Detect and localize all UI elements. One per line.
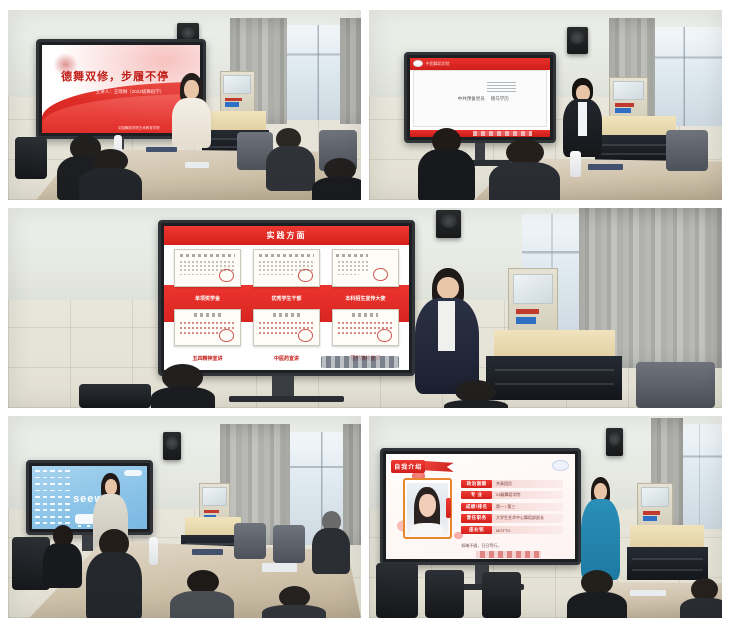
presenter-face (184, 80, 198, 99)
slide-column-2: 德马学历 (491, 96, 509, 102)
app-icon[interactable] (43, 490, 47, 492)
slide-ribbon: 自我介绍 (391, 460, 448, 474)
chair (273, 525, 305, 563)
app-icon[interactable] (65, 483, 69, 485)
ribbon-tail (422, 461, 453, 472)
certificate-caption: 五四精神宣讲 (174, 352, 242, 364)
certificate-card[interactable]: 本科招生宣传大使 (332, 249, 400, 305)
slide-title-text: 自我介绍 (394, 462, 422, 471)
board-screen[interactable]: 自我介绍 (386, 454, 575, 559)
university-logo-icon (552, 460, 569, 472)
presenter-shirt (438, 301, 455, 351)
info-value: MOTTO (492, 526, 564, 534)
cabinet-red-tag (615, 103, 633, 106)
chair (636, 362, 715, 408)
app-icon[interactable] (35, 490, 39, 492)
presenter-shirt (578, 102, 587, 136)
draped-table (494, 330, 615, 358)
info-label: 专 业 (461, 491, 492, 499)
audience-member (489, 139, 560, 200)
app-icon[interactable] (65, 516, 69, 518)
wall-cabinet (609, 77, 648, 119)
audience-member (86, 529, 142, 618)
app-icon[interactable] (50, 516, 54, 518)
app-icon[interactable] (35, 516, 39, 518)
audience-member (79, 149, 143, 200)
info-value: 大学生艺术中心舞蹈部部长 (492, 514, 564, 522)
cabinet-glass (513, 274, 553, 304)
chair (15, 137, 47, 179)
app-icon[interactable] (65, 477, 69, 479)
ceiling-speaker-icon (436, 210, 461, 238)
app-icon[interactable] (43, 503, 47, 505)
slide-launcher: seewo (32, 466, 147, 529)
water-bottle (570, 151, 581, 178)
slide-title-text: 实践方面 (266, 230, 306, 241)
collage-row-bottom: seewo (8, 416, 722, 618)
smart-board[interactable]: 实践方面 (158, 220, 415, 376)
water-bottle (149, 537, 158, 565)
cabinet-glass (223, 75, 251, 94)
app-icon[interactable] (58, 496, 62, 498)
info-value: 23级舞蹈学院 (492, 491, 564, 499)
panel-top-right[interactable]: 中国舞蹈学院 中共预备党员 德马学历 (369, 10, 722, 200)
cabinet-glass (202, 487, 227, 506)
slide-subtitle-text: 主讲人：王晓琳（2022级舞蹈学） (96, 89, 165, 95)
ceiling-speaker-icon (163, 432, 181, 460)
app-icon[interactable] (50, 470, 54, 472)
room-scene: seewo (8, 416, 361, 618)
certificate-card[interactable]: 中医药宣讲 (253, 309, 321, 365)
certificate-image (174, 249, 242, 287)
chair (482, 572, 521, 618)
presenter-face (437, 277, 459, 299)
audience-member (43, 525, 82, 586)
app-icon[interactable] (65, 490, 69, 492)
panel-bottom-right[interactable]: 自我介绍 (369, 416, 722, 618)
certificate-card[interactable]: 优秀学生干部 (253, 249, 321, 305)
app-icon[interactable] (58, 470, 62, 472)
collage-row-top: 德舞双修，步履不停 主讲人：王晓琳（2022级舞蹈学） 中国舞蹈学院艺术教育学院 (8, 10, 722, 200)
seal-icon (373, 268, 387, 281)
portrait-photo (407, 483, 448, 534)
info-label: 座右铭 (461, 526, 492, 534)
presenter (415, 268, 479, 392)
app-icon[interactable] (58, 509, 62, 511)
draped-table (185, 517, 241, 537)
app-icon[interactable] (58, 503, 62, 505)
info-label: 曾任职务 (461, 514, 492, 522)
slide-title-text: 德舞双修，步履不停 (61, 68, 169, 84)
seal-icon (219, 269, 233, 282)
presenter (563, 78, 602, 158)
app-icon[interactable] (58, 516, 62, 518)
app-icon[interactable] (50, 496, 54, 498)
app-icon[interactable] (35, 496, 39, 498)
info-row: 成绩/排名 第一 / 第三 (461, 503, 563, 511)
slide-column-1: 中共预备党员 (458, 96, 485, 102)
slide-table (487, 82, 516, 92)
app-icon[interactable] (58, 522, 62, 524)
info-rows: 政治面貌 共青团员 专 业 23级舞蹈学院 成绩/排名 第一 / 第三 (461, 480, 563, 535)
info-value: 共青团员 (492, 480, 564, 488)
notepad (185, 162, 210, 168)
app-icon[interactable] (58, 483, 62, 485)
draped-table (630, 525, 704, 549)
chair (79, 384, 150, 408)
info-label: 政治面貌 (461, 480, 492, 488)
app-grid[interactable] (35, 470, 70, 524)
panel-bottom-left[interactable]: seewo (8, 416, 361, 618)
app-icon[interactable] (65, 496, 69, 498)
notepad (262, 563, 297, 571)
wall-cabinet (508, 268, 558, 332)
info-row: 政治面貌 共青团员 (461, 480, 563, 488)
audience-member (680, 578, 722, 618)
app-icon[interactable] (50, 503, 54, 505)
certificate-caption: 中医药宣讲 (253, 352, 321, 364)
app-icon[interactable] (43, 483, 47, 485)
notepad (630, 590, 665, 596)
certificate-caption: 优秀学生干部 (253, 292, 321, 304)
smart-board[interactable]: seewo (26, 460, 153, 535)
presenter-face (594, 483, 607, 500)
presenter (581, 477, 620, 578)
app-icon[interactable] (50, 477, 54, 479)
presenter-torso (172, 98, 211, 147)
room-scene: 中国舞蹈学院 中共预备党员 德马学历 (369, 10, 722, 200)
cabinet-blue-tag (516, 317, 536, 324)
collage-row-middle: 实践方面 (8, 208, 722, 408)
app-icon[interactable] (43, 522, 47, 524)
slide-title-bar: 实践方面 (164, 226, 409, 245)
audience-member (312, 511, 351, 572)
info-row: 曾任职务 大学生艺术中心舞蹈部部长 (461, 514, 563, 522)
audience-member (418, 128, 474, 200)
slide-header-text: 中国舞蹈学院 (426, 61, 450, 67)
presenter (170, 73, 212, 153)
board-toolbar[interactable] (476, 551, 540, 558)
folder (192, 549, 224, 555)
presenter-face (105, 479, 117, 495)
app-icon[interactable] (35, 509, 39, 511)
certificate-grid: 单项奖学金 优秀学生干部 (174, 249, 399, 364)
chair (425, 570, 464, 618)
app-icon[interactable] (35, 522, 39, 524)
room-scene: 德舞双修，步履不停 主讲人：王晓琳（2022级舞蹈学） 中国舞蹈学院艺术教育学院 (8, 10, 361, 200)
cabinet-blue-tag (225, 102, 239, 106)
audience-member (170, 570, 234, 618)
name-tag (446, 498, 451, 519)
app-icon[interactable] (50, 522, 54, 524)
certificate-card[interactable]: 五四精神宣讲 (174, 309, 242, 365)
presenter-torso (581, 499, 620, 580)
slide-practice: 实践方面 (164, 226, 409, 370)
app-icon[interactable] (50, 490, 54, 492)
app-icon[interactable] (50, 509, 54, 511)
board-toolbar[interactable] (473, 131, 532, 136)
cabinet-glass (613, 81, 644, 100)
window (680, 424, 722, 529)
motto-text: 如晦不辍，日日笃行。 (461, 543, 563, 549)
audience-member (444, 380, 508, 408)
seal-icon (377, 329, 391, 342)
wall-cabinet (220, 71, 255, 113)
cabinet-red-tag (225, 98, 242, 101)
app-icon[interactable] (58, 490, 62, 492)
draped-table (206, 111, 266, 132)
curtain-right (340, 18, 361, 124)
certificate-image (253, 249, 321, 287)
room-scene: 自我介绍 (369, 416, 722, 618)
app-icon[interactable] (43, 477, 47, 479)
certificate-image (253, 309, 321, 347)
audience-member (312, 158, 361, 200)
wall-cabinet (637, 483, 672, 527)
app-icon[interactable] (43, 509, 47, 511)
chair (234, 523, 266, 559)
slide-content: 中国舞蹈学院 中共预备党员 德马学历 (410, 58, 550, 137)
chair (666, 130, 708, 172)
portrait-frame (403, 478, 452, 539)
info-row: 座右铭 MOTTO (461, 526, 563, 534)
app-icon[interactable] (65, 503, 69, 505)
info-row: 专 业 23级舞蹈学院 (461, 491, 563, 499)
smart-board[interactable]: 自我介绍 (380, 448, 581, 565)
window (651, 27, 722, 126)
cabinet-blue-tag (643, 516, 657, 521)
audience-member (262, 586, 326, 618)
cabinet-red-tag (516, 309, 540, 314)
board-screen[interactable]: 实践方面 (164, 226, 409, 370)
ceiling-speaker-icon (606, 428, 624, 456)
info-value: 第一 / 第三 (492, 503, 564, 511)
chair (376, 563, 418, 618)
app-icon[interactable] (50, 483, 54, 485)
folder (588, 164, 623, 170)
slide-title-tag: 自我介绍 (391, 460, 425, 474)
certificate-image (332, 249, 400, 287)
photo-collage: 德舞双修，步履不停 主讲人：王晓琳（2022级舞蹈学） 中国舞蹈学院艺术教育学院 (0, 0, 730, 640)
certificate-image (174, 309, 242, 347)
seal-icon (298, 269, 312, 282)
seal-icon (219, 329, 233, 342)
certificate-image (332, 309, 400, 347)
app-icon[interactable] (35, 503, 39, 505)
cabinet-glass (641, 487, 669, 507)
ceiling-speaker-icon (567, 27, 588, 54)
slide-body: 中共预备党员 德马学历 (413, 70, 547, 127)
board-stand (272, 376, 293, 398)
app-icon[interactable] (65, 470, 69, 472)
cabinet-red-tag (643, 511, 660, 514)
panel-top-left[interactable]: 德舞双修，步履不停 主讲人：王晓琳（2022级舞蹈学） 中国舞蹈学院艺术教育学院 (8, 10, 361, 200)
slide-self-introduction: 自我介绍 (386, 454, 575, 559)
certificate-caption: 本科招生宣传大使 (332, 292, 400, 304)
draped-table (598, 116, 676, 137)
cabinet-red-tag (204, 510, 219, 513)
room-scene: 实践方面 (8, 208, 722, 408)
app-icon[interactable] (43, 516, 47, 518)
board-foot (229, 396, 343, 402)
info-label: 成绩/排名 (461, 503, 492, 511)
app-icon[interactable] (58, 477, 62, 479)
board-toolbar[interactable] (321, 356, 399, 368)
board-screen[interactable]: 中国舞蹈学院 中共预备党员 德马学历 (410, 58, 550, 137)
panel-middle[interactable]: 实践方面 (8, 208, 722, 408)
app-icon[interactable] (35, 470, 39, 472)
app-icon[interactable] (65, 522, 69, 524)
audience-member (567, 570, 627, 618)
audience-member (266, 128, 315, 189)
app-icon[interactable] (35, 483, 39, 485)
certificate-caption: 单项奖学金 (174, 292, 242, 304)
folder (146, 147, 178, 153)
app-icon[interactable] (65, 509, 69, 511)
podium (627, 547, 708, 579)
cabinet-blue-tag (615, 108, 630, 112)
slide-footer-text: 中国舞蹈学院艺术教育学院 (118, 126, 160, 131)
board-screen[interactable]: seewo (32, 466, 147, 529)
app-icon[interactable] (35, 477, 39, 479)
audience-member (151, 364, 215, 408)
app-icon[interactable] (43, 470, 47, 472)
certificate-card[interactable]: 单项奖学金 (174, 249, 242, 305)
seal-icon (298, 329, 312, 342)
app-icon[interactable] (43, 496, 47, 498)
